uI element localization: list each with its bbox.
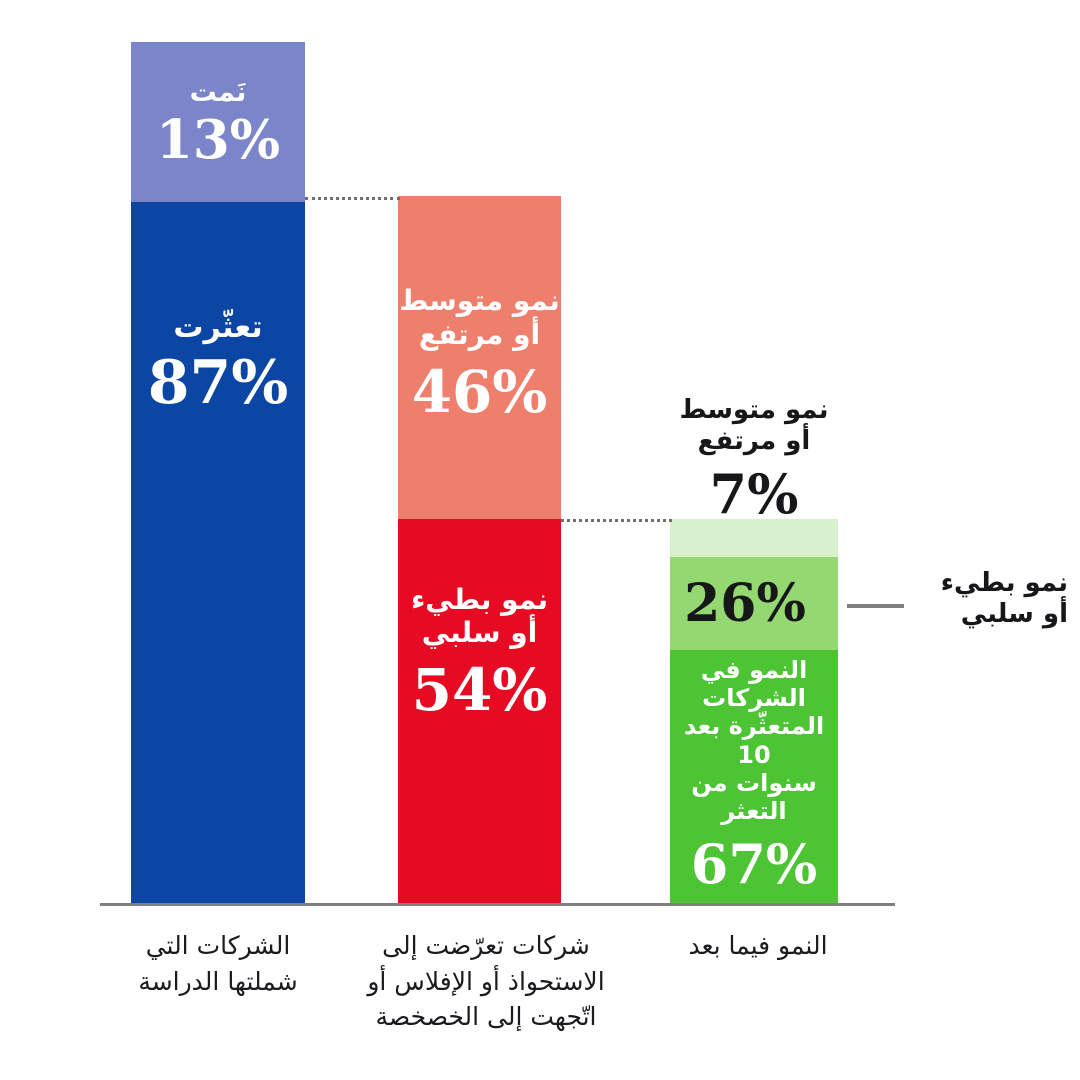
chart-canvas: نَمت 13% تعثّرت 87% نمو متوسط أو مرتفع 4… — [0, 0, 1080, 1080]
segment-grew-label: نَمت — [190, 77, 247, 109]
category-label-growth-afterwards: النمو فيما بعد — [640, 928, 876, 964]
connector-bar1-to-bar2 — [305, 197, 400, 200]
segment-faltered-value: 87% — [148, 353, 289, 413]
segment-medium-high-growth-value: 46% — [412, 363, 548, 421]
segment-grew-value: 13% — [156, 114, 280, 167]
label-slow-negative-growth-after-text: نمو بطيء أو سلبي — [888, 568, 1068, 630]
category-label-surveyed-companies: الشركات التي شملتها الدراسة — [88, 928, 348, 999]
bar-acquired-bankrupt-privatized: نمو متوسط أو مرتفع 46% نمو بطيء أو سلبي … — [398, 196, 561, 903]
label-medium-high-growth-after-text: نمو متوسط أو مرتفع — [634, 395, 874, 457]
segment-slow-negative-growth-value: 54% — [412, 661, 548, 719]
bar-surveyed-companies: نَمت 13% تعثّرت 87% — [131, 42, 305, 903]
segment-slow-negative-growth-after-value: 26% — [684, 578, 806, 630]
segment-slow-negative-growth[interactable]: نمو بطيء أو سلبي 54% — [398, 519, 561, 903]
label-slow-negative-growth-after: نمو بطيء أو سلبي — [888, 568, 1068, 630]
category-label-acquired-bankrupt-privatized: شركات تعرّضت إلى الاستحواذ أو الإفلاس أو… — [350, 928, 622, 1035]
segment-slow-negative-growth-after[interactable]: 26% — [670, 557, 838, 650]
label-medium-high-growth-after: نمو متوسط أو مرتفع 7% — [634, 395, 874, 521]
bar-growth-afterwards: 26% النمو في الشركات المتعثّرة بعد 10 سن… — [670, 519, 838, 903]
segment-growth-in-faltered-companies-label: النمو في الشركات المتعثّرة بعد 10 سنوات … — [670, 656, 838, 826]
label-medium-high-growth-after-value: 7% — [634, 467, 874, 521]
segment-slow-negative-growth-label: نمو بطيء أو سلبي — [411, 583, 548, 649]
segment-faltered[interactable]: تعثّرت 87% — [131, 202, 305, 903]
segment-growth-in-faltered-companies-value: 67% — [691, 837, 817, 891]
segment-growth-in-faltered-companies[interactable]: النمو في الشركات المتعثّرة بعد 10 سنوات … — [670, 650, 838, 903]
segment-grew[interactable]: نَمت 13% — [131, 42, 305, 202]
segment-medium-high-growth[interactable]: نمو متوسط أو مرتفع 46% — [398, 196, 561, 519]
segment-medium-high-growth-label: نمو متوسط أو مرتفع — [399, 284, 559, 350]
axis-baseline — [100, 903, 895, 906]
segment-faltered-label: تعثّرت — [173, 310, 262, 345]
